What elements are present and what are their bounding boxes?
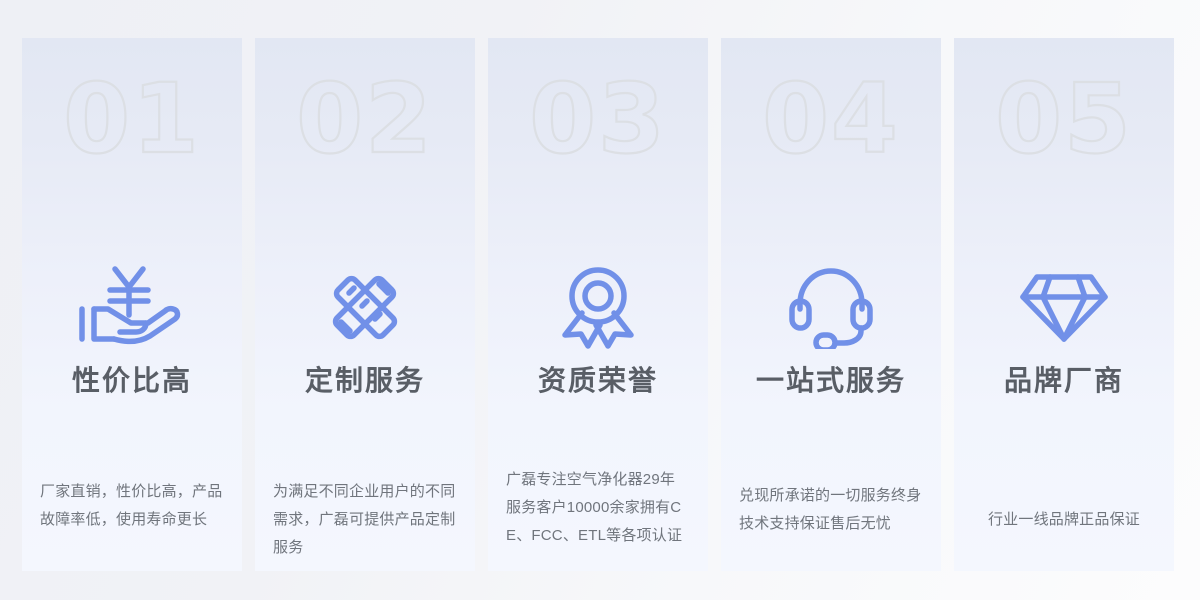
card-number-badge: 02 <box>255 76 475 176</box>
card-description: 为满足不同企业用户的不同需求，广磊可提供产品定制服务 <box>273 478 457 562</box>
card-number-text: 01 <box>63 76 201 175</box>
feature-cards-row: 01 性价比高 <box>22 38 1178 571</box>
feature-card-01[interactable]: 01 性价比高 <box>22 38 242 571</box>
card-number-badge: 04 <box>721 76 941 176</box>
card-number-text: 02 <box>296 76 434 175</box>
diamond-icon <box>954 260 1174 352</box>
card-number-badge: 03 <box>488 76 708 176</box>
card-description: 厂家直销，性价比高，产品故障率低，使用寿命更长 <box>40 478 224 534</box>
feature-card-02[interactable]: 02 定制服务 为满足不同企业用户的不同需求，广磊可提供产品定制服务 <box>255 38 475 571</box>
card-description: 兑现所承诺的一切服务终身技术支持保证售后无忧 <box>739 482 923 538</box>
card-title: 定制服务 <box>255 363 475 399</box>
card-number-badge: 01 <box>22 76 242 176</box>
card-number-text: 03 <box>529 76 667 175</box>
pencil-ruler-icon <box>255 260 475 352</box>
card-description: 广磊专注空气净化器29年服务客户10000余家拥有CE、FCC、ETL等各项认证 <box>506 466 690 550</box>
feature-card-05[interactable]: 05 品牌厂商 行业一线品牌正品保证 <box>954 38 1174 571</box>
card-title: 资质荣誉 <box>488 363 708 399</box>
card-number-text: 05 <box>995 76 1133 175</box>
headset-icon <box>721 260 941 352</box>
card-description: 行业一线品牌正品保证 <box>972 506 1156 534</box>
feature-card-04[interactable]: 04 一站式服务 兑现所承诺的一切服务终身技术支持保证售 <box>721 38 941 571</box>
hand-holding-yuan-icon <box>22 260 242 352</box>
card-title: 一站式服务 <box>721 363 941 399</box>
feature-card-03[interactable]: 03 资质荣誉 广磊专注空气净化器29年服务客户10000余家拥有CE、FCC、… <box>488 38 708 571</box>
card-number-badge: 05 <box>954 76 1174 176</box>
features-section: 01 性价比高 <box>0 0 1200 600</box>
card-title: 品牌厂商 <box>954 363 1174 399</box>
award-medal-icon <box>488 260 708 352</box>
card-number-text: 04 <box>762 76 900 175</box>
card-title: 性价比高 <box>22 363 242 399</box>
